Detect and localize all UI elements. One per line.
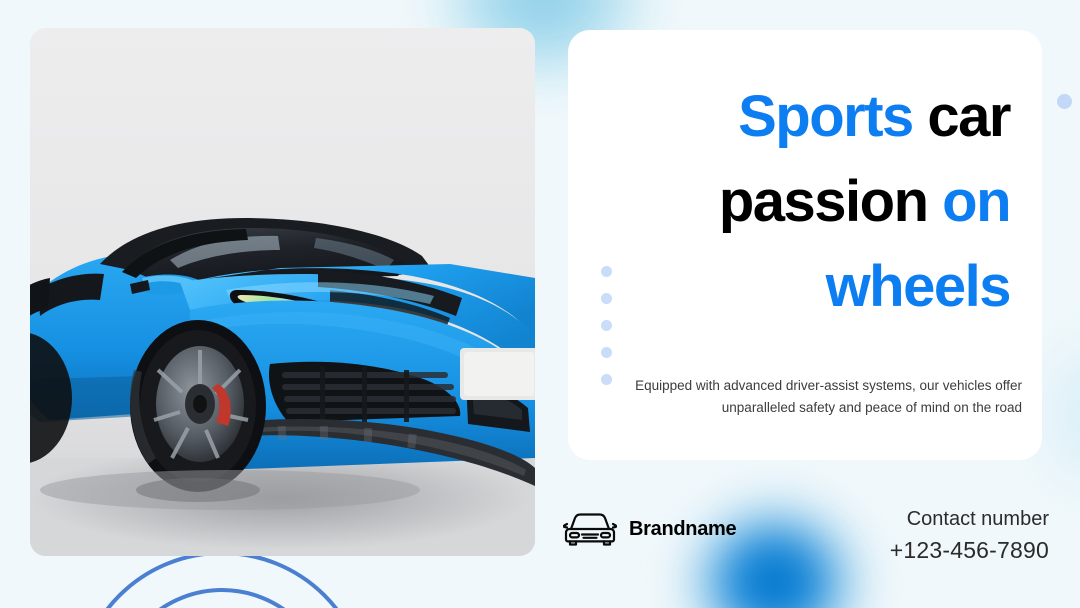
decorative-dots-column — [601, 266, 612, 385]
decorative-dot — [601, 266, 612, 277]
decorative-dot-right — [1057, 94, 1072, 109]
headline-line-1: Sports car — [608, 74, 1010, 159]
decorative-dot — [601, 293, 612, 304]
decorative-dot — [601, 320, 612, 331]
headline-word-wheels: wheels — [826, 254, 1010, 319]
brand-name: Brandname — [629, 518, 736, 541]
page-title: Sports car passion on wheels — [608, 74, 1014, 329]
car-photo-illustration — [30, 28, 535, 556]
headline-line-3: wheels — [608, 244, 1010, 329]
contact-number[interactable]: +123-456-7890 — [890, 534, 1049, 566]
headline-word-on: on — [942, 169, 1010, 234]
headline-word-sports: Sports — [738, 84, 927, 149]
car-front-icon — [563, 509, 617, 549]
decorative-dot — [601, 347, 612, 358]
footer: Brandname Contact number +123-456-7890 — [0, 495, 1080, 575]
contact-label: Contact number — [890, 504, 1049, 534]
headline-word-passion: passion — [719, 169, 942, 234]
headline-card: Sports car passion on wheels Equipped wi… — [568, 30, 1042, 460]
brand-lockup[interactable]: Brandname — [563, 509, 736, 549]
headline-word-car: car — [927, 84, 1010, 149]
headline-line-2: passion on — [608, 159, 1010, 244]
contact-block: Contact number +123-456-7890 — [890, 504, 1049, 566]
car-photo — [30, 28, 535, 556]
body-description: Equipped with advanced driver-assist sys… — [608, 375, 1022, 419]
